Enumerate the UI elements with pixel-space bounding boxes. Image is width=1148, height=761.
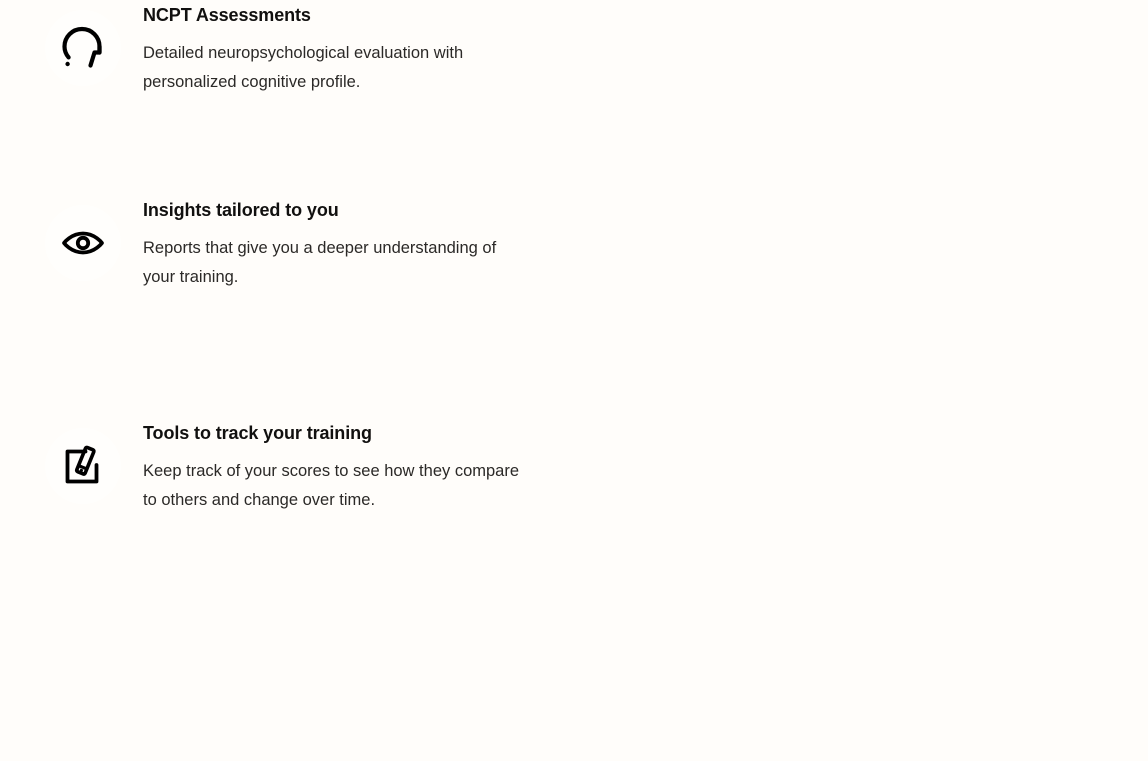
features-grid: NCPT Assessments Detailed neuropsycholog…	[0, 0, 1148, 646]
feature-description: Reports that give you a deeper understan…	[143, 234, 523, 292]
feature-title: NCPT Assessments	[143, 3, 523, 27]
feature-card-tools-track-training: Tools to track your training Keep track …	[0, 418, 576, 646]
feature-card-exclusive-access: Exclusive access to new features Sneak p…	[576, 418, 1148, 646]
feature-description: Detailed neuropsychological evaluation w…	[143, 39, 523, 97]
feature-text: NCPT Assessments Detailed neuropsycholog…	[143, 0, 523, 97]
feature-card-cognitive-games: Play all 50+ cognitive games Your choice…	[576, 195, 1148, 418]
feature-card-ncpt-assessments: NCPT Assessments Detailed neuropsycholog…	[0, 0, 576, 195]
head-profile-icon	[45, 10, 121, 86]
note-pencil-icon	[45, 428, 121, 504]
feature-card-unlock-workouts: Unlock full 5-game workouts Balanced wor…	[576, 0, 1148, 195]
eye-icon	[45, 205, 121, 281]
feature-text: Insights tailored to you Reports that gi…	[143, 195, 523, 292]
feature-card-insights: Insights tailored to you Reports that gi…	[0, 195, 576, 418]
feature-title: Tools to track your training	[143, 421, 523, 445]
feature-description: Keep track of your scores to see how the…	[143, 457, 523, 515]
feature-title: Insights tailored to you	[143, 198, 523, 222]
feature-text: Tools to track your training Keep track …	[143, 418, 523, 515]
